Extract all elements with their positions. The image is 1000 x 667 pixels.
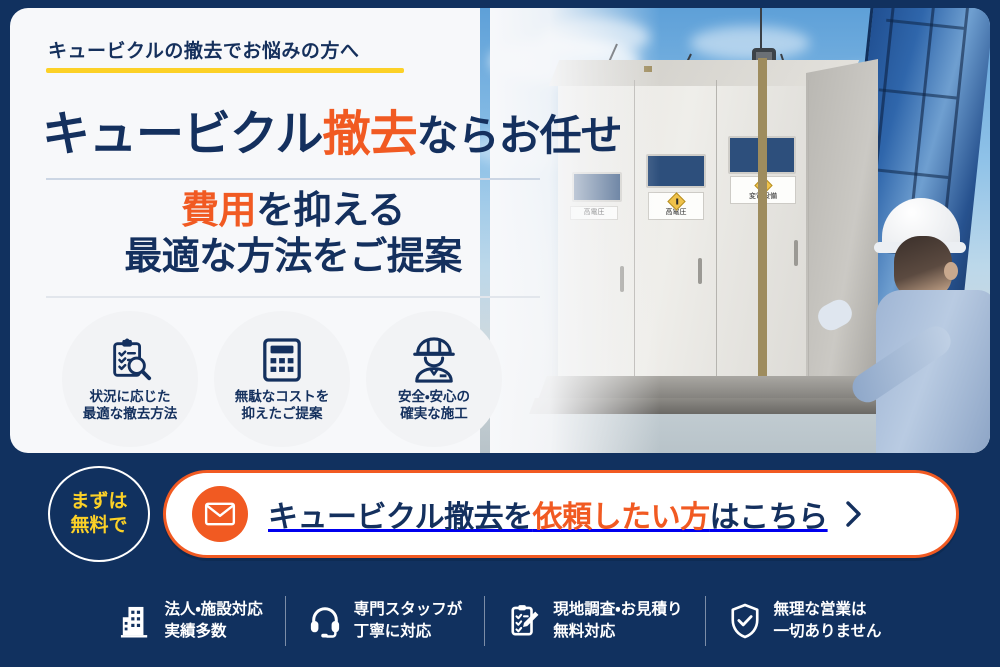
feature-caption-3-line2: 確実な施工 [398, 405, 470, 422]
hero-kicker: キュービクルの撤去でお悩みの方へ [48, 36, 359, 63]
trust-item-nosales-line1: 無理な営業は [774, 599, 882, 621]
promo-banner: 高電圧 高電圧 変電設備 [0, 0, 1000, 667]
feature-circle-2: 無駄なコストを 抑えたご提案 [214, 311, 350, 447]
hero-divider-top [46, 178, 540, 180]
hero-text-block: キュービクルの撤去でお悩みの方へ キュービクル撤去ならお任せ 費用を抑える 最適… [10, 8, 570, 453]
hero-card: 高電圧 高電圧 変電設備 [10, 8, 990, 453]
feature-caption-1-line1: 状況に応じた [83, 388, 178, 405]
trust-item-nosales-text: 無理な営業は 一切ありません [774, 599, 882, 643]
hero-headline: キュービクル撤去ならお任せ [42, 94, 622, 164]
worker-helmet-icon [410, 336, 458, 384]
feature-caption-3: 安全・安心の 確実な施工 [398, 388, 470, 423]
feature-caption-1: 状況に応じた 最適な撤去方法 [83, 388, 178, 423]
chevron-right-icon [842, 498, 864, 530]
free-badge-line1: まずは [70, 490, 127, 514]
trust-item-nosales: 無理な営業は 一切ありません [706, 593, 904, 649]
cloud-shape [690, 26, 810, 60]
feature-circle-group: 状況に応じた 最適な撤去方法 [62, 311, 532, 451]
trust-bar: 法人・施設対応 実績多数 専門スタッフが 丁寧に対応 [0, 575, 1000, 667]
calculator-icon [261, 336, 303, 384]
trust-item-survey-line1: 現地調査・お見積り [553, 599, 682, 621]
cta-row: まずは 無料で キュービクル撤去を依頼したい方はこちら [0, 462, 1000, 562]
building-icon [118, 601, 152, 641]
clipboard-search-icon [107, 336, 153, 384]
headset-icon [308, 601, 342, 641]
trust-item-corporate: 法人・施設対応 実績多数 [96, 593, 284, 649]
shield-check-icon [728, 601, 762, 641]
trust-item-staff-line1: 専門スタッフが [354, 599, 463, 621]
worker-arm [847, 321, 957, 409]
trust-item-corporate-line1: 法人・施設対応 [164, 599, 262, 621]
hero-divider-bottom [46, 296, 540, 298]
trust-item-staff: 専門スタッフが 丁寧に対応 [286, 593, 485, 649]
worker-figure [840, 198, 990, 453]
cta-button[interactable]: キュービクル撤去を依頼したい方はこちら [163, 470, 959, 558]
free-badge-line2: 無料で [70, 514, 127, 538]
subheading-line1: 費用を抑える [46, 188, 540, 234]
worker-torso [876, 290, 990, 453]
headline-part1: キュービクル [42, 108, 323, 161]
hero-subheading: 費用を抑える 最適な方法をご提案 [46, 188, 540, 281]
trust-item-staff-text: 専門スタッフが 丁寧に対応 [354, 599, 463, 643]
feature-circle-1: 状況に応じた 最適な撤去方法 [62, 311, 198, 447]
boom-segment [870, 168, 948, 179]
feature-caption-1-line2: 最適な撤去方法 [83, 405, 178, 422]
feature-caption-2-line2: 抑えたご提案 [235, 405, 330, 422]
cta-part1: キュービクル撤去を [268, 501, 533, 534]
worker-ear [944, 262, 958, 280]
cta-part2: はこちら [710, 501, 828, 534]
clipboard-pencil-icon [507, 601, 541, 641]
headline-part2: ならお任せ [417, 112, 622, 159]
trust-item-corporate-line2: 実績多数 [164, 621, 262, 643]
subheading-line1-rest: を抑える [256, 190, 405, 232]
worker-head [894, 236, 952, 298]
subheading-accent: 費用 [181, 190, 256, 232]
door-handle [794, 240, 798, 266]
door-handle [698, 258, 702, 284]
cta-label: キュービクル撤去を依頼したい方はこちら [268, 492, 828, 536]
lifting-strap [758, 58, 767, 384]
feature-caption-2: 無駄なコストを 抑えたご提案 [235, 388, 330, 423]
trust-item-corporate-text: 法人・施設対応 実績多数 [164, 599, 262, 643]
feature-caption-2-line1: 無駄なコストを [235, 388, 330, 405]
trust-item-nosales-line2: 一切ありません [774, 621, 882, 643]
trust-item-survey: 現地調査・お見積り 無料対応 [485, 593, 704, 649]
free-badge: まずは 無料で [48, 466, 150, 562]
trust-item-staff-line2: 丁寧に対応 [354, 621, 463, 643]
headline-accent: 撤去 [323, 108, 417, 161]
feature-caption-3-line1: 安全・安心の [398, 388, 470, 405]
envelope-icon [192, 486, 248, 542]
feature-circle-3: 安全・安心の 確実な施工 [366, 311, 502, 447]
cta-accent: 依頼したい方 [533, 501, 710, 534]
kicker-underline [46, 68, 404, 73]
boom-segment [879, 88, 957, 99]
trust-item-survey-text: 現地調査・お見積り 無料対応 [553, 599, 682, 643]
subheading-line2: 最適な方法をご提案 [46, 234, 540, 280]
trust-item-survey-line2: 無料対応 [553, 621, 682, 643]
boom-segment [886, 19, 964, 30]
